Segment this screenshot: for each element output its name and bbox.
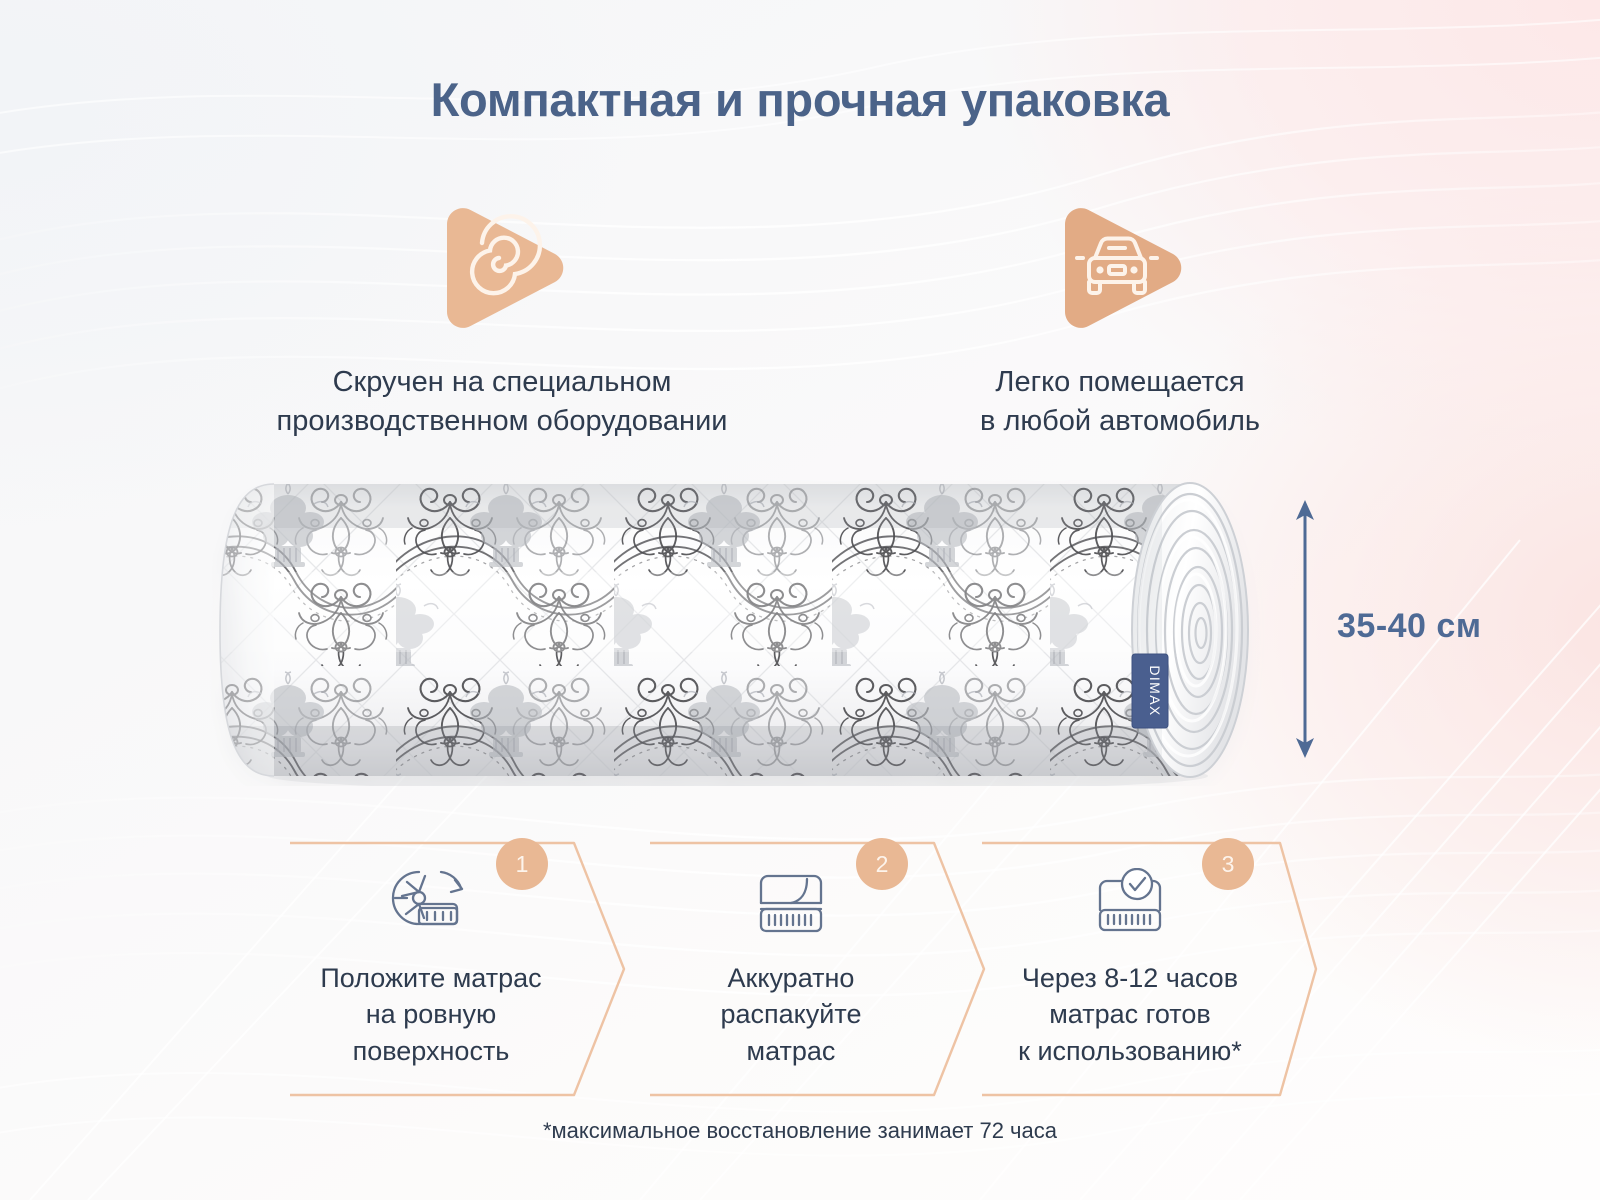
step-icon-wrap — [1090, 866, 1170, 944]
unpack-mattress-icon — [751, 869, 831, 941]
step-text: Аккуратно распакуйте матрас — [721, 960, 862, 1069]
step-text: Положите матрас на ровную поверхность — [320, 960, 541, 1069]
spiral-roll-icon — [427, 196, 577, 341]
brand-label-tag: DIMAX — [1132, 654, 1168, 728]
dimension-label: 35-40 см — [1337, 607, 1481, 646]
mattress-check-icon — [1090, 868, 1170, 942]
feature-icon-wrap — [860, 196, 1380, 341]
step-number-badge: 1 — [496, 838, 548, 890]
feature-item-car: Легко помещается в любой автомобиль — [860, 196, 1380, 440]
footnote-text: *максимальное восстановление занимает 72… — [0, 1118, 1600, 1144]
infographic-canvas: Компактная и прочная упаковка Скручен на… — [0, 0, 1600, 1200]
step-card-2[interactable]: Аккуратно распакуйте матрас 2 — [648, 840, 986, 1098]
feature-caption: Легко помещается в любой автомобиль — [860, 363, 1380, 440]
steps-row: Положите матрас на ровную поверхность 1 — [0, 840, 1600, 1098]
feature-item-rolled: Скручен на специальном производственном … — [212, 196, 792, 440]
step-icon-wrap — [751, 866, 831, 944]
step-card-1[interactable]: Положите матрас на ровную поверхность 1 — [288, 840, 626, 1098]
car-icon — [1045, 196, 1195, 341]
step-number-badge: 2 — [856, 838, 908, 890]
step-card-3[interactable]: Через 8-12 часов матрас готов к использо… — [980, 840, 1318, 1098]
mattress-roll-svg: DIMAX — [178, 476, 1264, 786]
feature-caption: Скручен на специальном производственном … — [212, 363, 792, 440]
rolled-mattress-image: DIMAX — [178, 476, 1264, 786]
rolled-mattress-measure-icon — [389, 866, 473, 944]
step-number-badge: 3 — [1202, 838, 1254, 890]
step-icon-wrap — [389, 866, 473, 944]
page-title: Компактная и прочная упаковка — [0, 72, 1600, 127]
step-text: Через 8-12 часов матрас готов к использо… — [1018, 960, 1242, 1069]
brand-label-text: DIMAX — [1147, 665, 1163, 716]
feature-icon-wrap — [212, 196, 792, 341]
dimension-arrow — [1283, 498, 1327, 760]
